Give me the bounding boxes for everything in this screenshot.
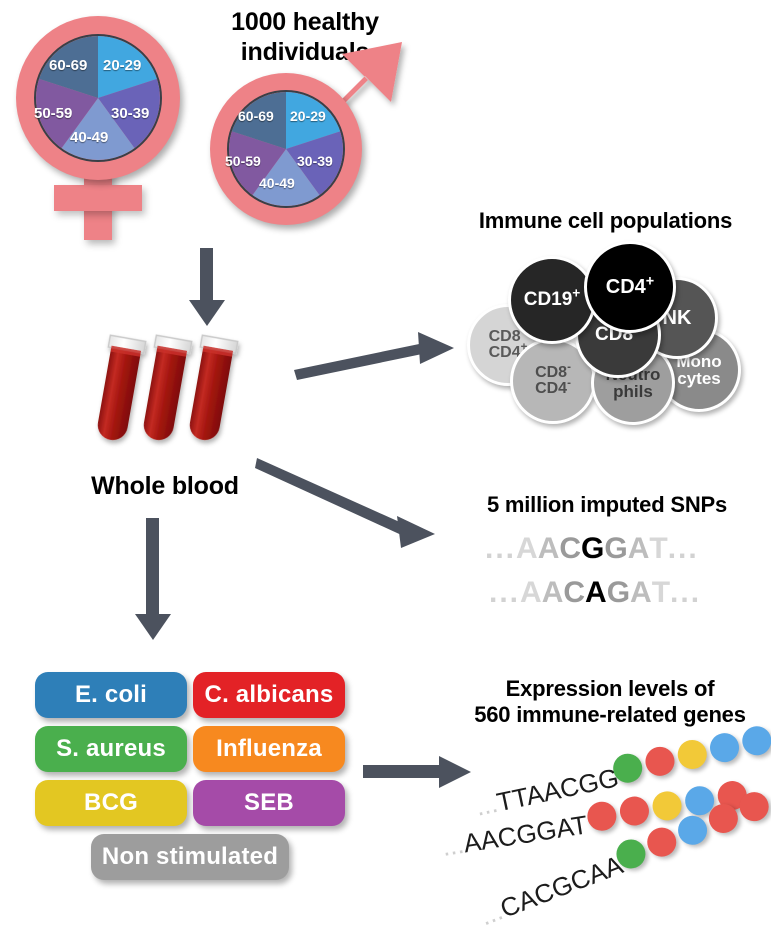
immune-heading: Immune cell populations [443, 208, 768, 234]
arrow-blood-to-snps [255, 448, 455, 553]
immune-cell-cluster: CD8+CD4+ CD8-CD4- Monocytes Neutrophils … [460, 238, 760, 428]
snp-row1-suffix: ... [668, 532, 699, 566]
stimulus-bcg-label: BCG [84, 789, 138, 817]
snp-row1-prefix: ... [485, 532, 516, 566]
whole-blood-label: Whole blood [65, 472, 265, 502]
stimulus-e-coli[interactable]: E. coli [35, 672, 187, 718]
snp-row2-b1: A [520, 576, 542, 610]
expression-heading-line1: Expression levels of [455, 676, 765, 702]
snp-sequence-row-2: ...AACAGAT... [489, 576, 701, 610]
snp-row1-b6: A [628, 532, 650, 566]
stimulus-seb-label: SEB [244, 789, 294, 817]
expression-strand-1-bead-4 [707, 730, 741, 764]
immune-cell-cd19pos-label: CD19+ [524, 290, 581, 309]
snp-row1-b2: A [538, 532, 560, 566]
snps-heading: 5 million imputed SNPs [452, 492, 762, 518]
stimulus-e-coli-label: E. coli [75, 681, 147, 709]
blood-tube-2 [138, 335, 191, 443]
blood-tube-1 [95, 335, 146, 443]
blood-tube-3 [184, 335, 237, 443]
snp-sequences: ...AACGGAT... ...AACAGAT... [485, 532, 755, 632]
female-age-pie [34, 34, 162, 162]
expression-strands: ...TTAACGG ...AACGGAT ...CACGCAA [455, 740, 771, 920]
female-symbol: 20-29 30-39 40-49 50-59 60-69 [8, 10, 198, 245]
stimulus-non-stimulated[interactable]: Non stimulated [91, 834, 289, 880]
snp-row2-suffix: ... [670, 576, 701, 610]
male-pie-svg [229, 92, 343, 206]
female-pie-svg [36, 36, 160, 160]
snp-row2-prefix: ... [489, 576, 520, 610]
expression-heading-line2: 560 immune-related genes [455, 702, 765, 728]
expression-strand-1-bead-2 [643, 744, 677, 778]
stimuli-panel: E. coli C. albicans S. aureus Influenza … [30, 672, 350, 892]
stimulus-c-albicans-label: C. albicans [205, 681, 334, 709]
stimulus-s-aureus-label: S. aureus [56, 735, 166, 763]
figure-canvas: 1000 healthy individuals 20-29 30-39 40-… [0, 0, 771, 922]
snp-row2-b6: A [630, 576, 652, 610]
snp-row1-b7: T [649, 532, 667, 566]
stimulus-influenza-label: Influenza [216, 735, 322, 763]
stimulus-c-albicans[interactable]: C. albicans [193, 672, 345, 718]
immune-cell-cd19pos: CD19+ [508, 256, 596, 344]
snp-row2-b3: C [563, 576, 585, 610]
expression-heading: Expression levels of 560 immune-related … [455, 676, 765, 728]
snp-row2-b2: A [542, 576, 564, 610]
male-age-pie [227, 90, 345, 208]
snp-row2-b7: T [652, 576, 670, 610]
snp-row1-b5: G [604, 532, 627, 566]
male-symbol: 20-29 30-39 40-49 50-59 60-69 [205, 28, 415, 243]
arrow-blood-to-immune [292, 330, 457, 380]
expression-strand-1-bead-5 [740, 724, 771, 758]
stimulus-non-stimulated-label: Non stimulated [102, 843, 278, 871]
snp-row2-b5: G [607, 576, 630, 610]
immune-cell-cd4pos-label: CD4+ [606, 277, 654, 297]
arrow-blood-to-stimuli [128, 518, 178, 643]
stimulus-seb[interactable]: SEB [193, 780, 345, 826]
expression-strand-1-bead-3 [675, 737, 709, 771]
snp-row1-b1: A [516, 532, 538, 566]
snp-row1-variant: G [581, 532, 604, 566]
snp-row2-variant: A [585, 576, 607, 610]
stimulus-influenza[interactable]: Influenza [193, 726, 345, 772]
snp-row1-b3: C [559, 532, 581, 566]
snp-sequence-row-1: ...AACGGAT... [485, 532, 699, 566]
female-symbol-cross [54, 185, 142, 211]
stimulus-s-aureus[interactable]: S. aureus [35, 726, 187, 772]
stimulus-bcg[interactable]: BCG [35, 780, 187, 826]
immune-cell-cd8neg-cd4neg-label: CD8-CD4- [535, 365, 571, 398]
arrow-cohort-to-blood [182, 248, 232, 328]
immune-cell-cd4pos: CD4+ [584, 241, 676, 333]
